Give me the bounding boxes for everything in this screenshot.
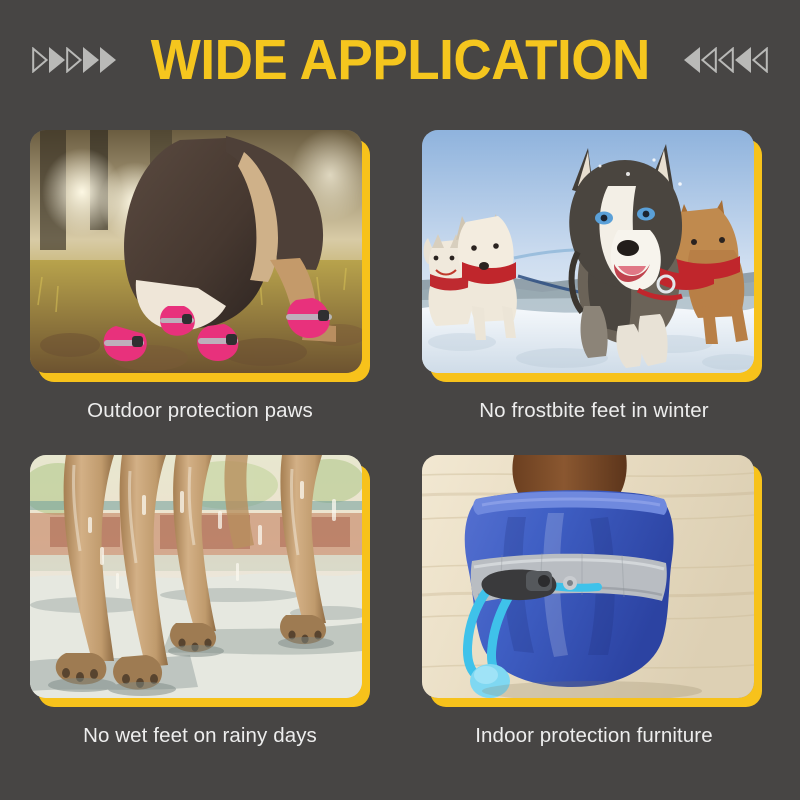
photo-outdoor-dog-pink-boots (30, 130, 362, 373)
arrow-right-filled-icon (83, 47, 99, 73)
arrow-left-filled-icon (735, 47, 751, 73)
card-no-frostbite-feet-in-winter[interactable]: No frostbite feet in winter (422, 130, 770, 455)
card-caption: No frostbite feet in winter (422, 398, 766, 424)
card-no-wet-feet-on-rainy-days[interactable]: No wet feet on rainy days (30, 455, 378, 780)
arrow-left-filled-icon (684, 47, 700, 73)
photo-wet-dog-legs-in-water (30, 455, 362, 698)
photo-frame (30, 455, 370, 707)
card-caption: Indoor protection furniture (422, 723, 766, 749)
feature-card-grid: Outdoor protection paws (0, 130, 800, 780)
card-row-2: No wet feet on rainy days (0, 455, 800, 780)
card-row-1: Outdoor protection paws (0, 130, 800, 455)
right-arrow-group (684, 47, 768, 73)
photo-huskies-in-snow (422, 130, 754, 373)
card-outdoor-protection-paws[interactable]: Outdoor protection paws (30, 130, 378, 455)
photo-blue-dog-boot-product (422, 455, 754, 698)
arrow-right-filled-icon (100, 47, 116, 73)
arrow-left-outline-icon (718, 47, 734, 73)
arrow-left-outline-icon (752, 47, 768, 73)
infographic-page: WIDE APPLICATION (0, 0, 800, 800)
photo-frame (422, 455, 762, 707)
left-arrow-group (32, 47, 116, 73)
card-indoor-protection-furniture[interactable]: Indoor protection furniture (422, 455, 770, 780)
arrow-right-outline-icon (32, 47, 48, 73)
arrow-right-filled-icon (49, 47, 65, 73)
header-banner: WIDE APPLICATION (0, 26, 800, 94)
card-caption: No wet feet on rainy days (30, 723, 370, 749)
card-caption: Outdoor protection paws (30, 398, 370, 424)
photo-frame (30, 130, 370, 382)
photo-frame (422, 130, 762, 382)
arrow-right-outline-icon (66, 47, 82, 73)
arrow-left-outline-icon (701, 47, 717, 73)
page-title: WIDE APPLICATION (150, 31, 649, 89)
